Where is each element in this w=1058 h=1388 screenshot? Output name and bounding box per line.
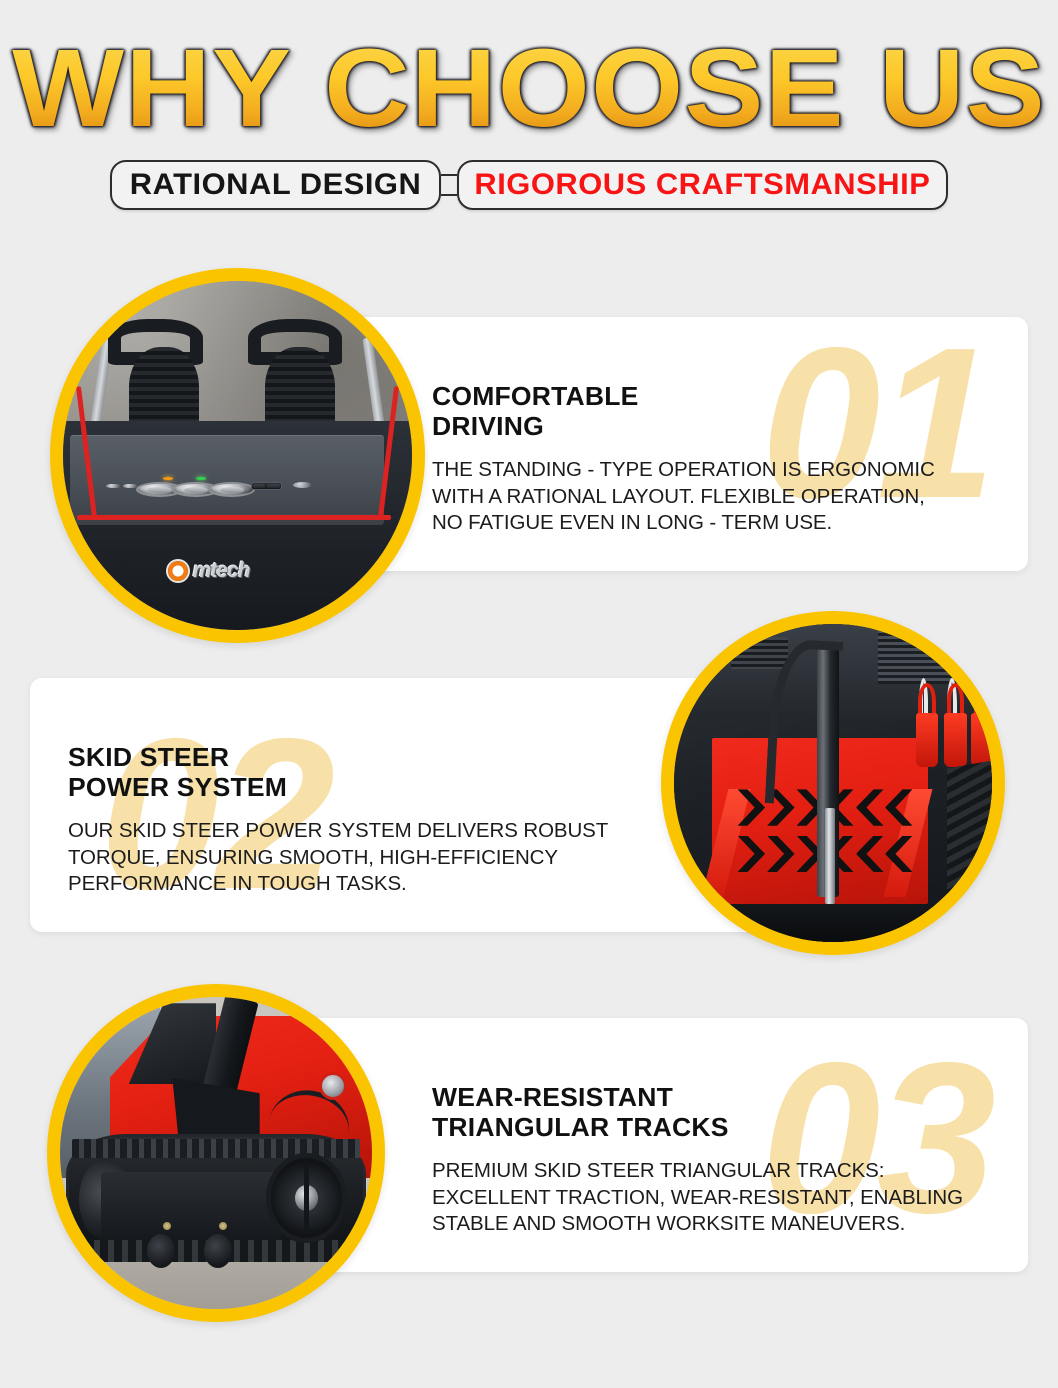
page-header: WHY CHOOSE US RATIONAL DESIGN RIGOROUS C… <box>0 0 1058 240</box>
feature-photo-01: mtech <box>50 268 425 643</box>
radiator-grille <box>878 630 973 684</box>
red-frame-bar-horizontal <box>77 515 391 520</box>
badge-rigorous-craftsmanship-label: RIGOROUS CRAFTSMANSHIP <box>475 170 931 200</box>
page-title: WHY CHOOSE US <box>0 34 1058 144</box>
badge-rational-design-label: RATIONAL DESIGN <box>130 170 422 200</box>
key-switch <box>293 482 312 488</box>
cylinder-rod <box>825 808 835 903</box>
track-roller-2 <box>204 1234 232 1268</box>
under-shadow <box>674 904 992 942</box>
gear-icon <box>168 561 188 581</box>
indicator-light-orange <box>163 477 174 480</box>
feature-card-03-body: WEAR-RESISTANT TRIANGULAR TRACKS PREMIUM… <box>432 1082 1022 1238</box>
feature-photo-03-image <box>60 997 372 1309</box>
badge-connector <box>441 174 457 196</box>
rocker-switch <box>251 482 282 490</box>
gauge-3 <box>208 482 255 497</box>
vent-grille <box>731 637 788 669</box>
feature-photo-02-image <box>674 624 992 942</box>
brand-logo-text: mtech <box>193 559 250 583</box>
feature-card-02-description: OUR SKID STEER POWER SYSTEM DELIVERS ROB… <box>68 818 668 898</box>
tagline-badge-row: RATIONAL DESIGN RIGOROUS CRAFTSMANSHIP <box>0 160 1058 210</box>
badge-rational-design: RATIONAL DESIGN <box>110 160 441 210</box>
frame-bolt-2 <box>219 1222 227 1230</box>
feature-card-03-description: PREMIUM SKID STEER TRIANGULAR TRACKS: EX… <box>432 1158 1022 1238</box>
panel-knob-1 <box>106 484 120 489</box>
feature-card-01-description: THE STANDING - TYPE OPERATION IS ERGONOM… <box>432 457 1012 537</box>
frame-bolt-1 <box>163 1222 171 1230</box>
feature-card-02-body: SKID STEER POWER SYSTEM OUR SKID STEER P… <box>68 742 668 898</box>
feature-photo-03 <box>47 984 385 1322</box>
feature-photo-01-image: mtech <box>63 281 412 630</box>
quick-coupler-3 <box>971 713 992 767</box>
badge-rigorous-craftsmanship: RIGOROUS CRAFTSMANSHIP <box>457 160 948 210</box>
quick-coupler-1 <box>916 713 938 767</box>
feature-card-02-title: SKID STEER POWER SYSTEM <box>68 742 680 802</box>
hydraulic-port-cap <box>319 1072 347 1100</box>
feature-card-03-title: WEAR-RESISTANT TRIANGULAR TRACKS <box>432 1082 1028 1142</box>
feature-photo-02 <box>661 611 1005 955</box>
feature-card-01-title: COMFORTABLE DRIVING <box>432 381 1024 441</box>
track-edge <box>947 759 992 914</box>
track-frame-bar <box>101 1172 282 1241</box>
control-panel <box>70 435 384 526</box>
brand-logo: mtech <box>168 557 308 585</box>
drive-sprocket <box>266 1153 347 1243</box>
indicator-light-green <box>196 477 207 480</box>
feature-card-01-body: COMFORTABLE DRIVING THE STANDING - TYPE … <box>432 381 1012 537</box>
quick-coupler-2 <box>944 713 966 767</box>
